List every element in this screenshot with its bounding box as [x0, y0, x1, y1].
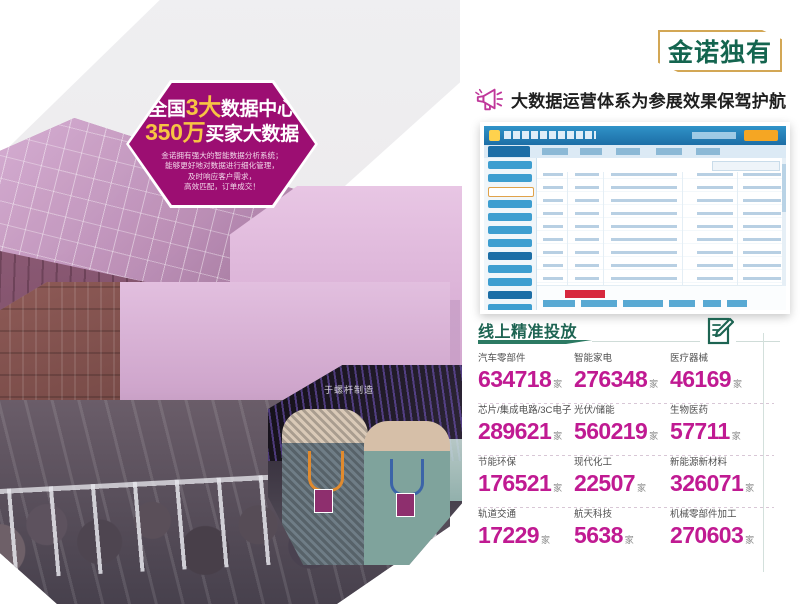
hexagon-callout: 全国3大数据中心 350万买家大数据 金诺拥有强大的智能数据分析系统； 能够更好…	[126, 80, 318, 208]
stat-value: 46169	[670, 366, 731, 392]
stat-value: 176521	[478, 470, 551, 496]
stat-value: 5638	[574, 522, 623, 548]
crm-table-rows	[537, 172, 786, 286]
callout-desc-line-3: 及时响应客户需求，	[161, 172, 283, 182]
lanyard-orange	[308, 451, 344, 492]
notepad-pencil-icon	[706, 316, 734, 346]
crm-logo-icon	[489, 130, 500, 141]
section-underline-taper	[566, 340, 592, 344]
stat-value-wrap: 22507家	[574, 470, 670, 497]
stat-cell: 汽车零部件 634718家	[478, 352, 574, 393]
visitor-badge-right	[396, 493, 415, 517]
stat-value: 57711	[670, 418, 730, 444]
stat-cell: 光伏/储能 560219家	[574, 404, 670, 445]
stat-value: 560219	[574, 418, 647, 444]
stat-cell: 节能环保 176521家	[478, 456, 574, 497]
stat-unit: 家	[732, 431, 741, 441]
crm-record-count	[565, 290, 605, 298]
section-header: 线上精准投放	[478, 318, 788, 344]
stat-unit: 家	[541, 535, 550, 545]
stat-value-wrap: 46169家	[670, 366, 766, 393]
stat-label: 智能家电	[574, 352, 670, 365]
stat-label: 医疗器械	[670, 352, 766, 365]
stat-value-wrap: 57711家	[670, 418, 766, 445]
stat-cell: 航天科技 5638家	[574, 508, 670, 549]
crm-cell-text	[537, 172, 786, 286]
stat-unit: 家	[625, 535, 634, 545]
stat-value: 270603	[670, 522, 743, 548]
stat-value-wrap: 17229家	[478, 522, 574, 549]
stat-value-wrap: 289621家	[478, 418, 574, 445]
booth-banner-text: 于螺杆制造	[324, 383, 374, 396]
stat-value: 22507	[574, 470, 635, 496]
section-title: 线上精准投放	[478, 318, 577, 342]
stat-cell: 智能家电 276348家	[574, 352, 670, 393]
stat-value: 326071	[670, 470, 743, 496]
section-underline-bar	[478, 340, 566, 344]
stat-value: 289621	[478, 418, 551, 444]
industry-stats-grid: 汽车零部件 634718家 智能家电 276348家 医疗器械 46169家 芯…	[478, 352, 768, 560]
crm-scrollbar[interactable]	[782, 158, 786, 286]
stat-unit: 家	[553, 431, 562, 441]
stat-unit: 家	[553, 483, 562, 493]
stats-row: 汽车零部件 634718家 智能家电 276348家 医疗器械 46169家	[478, 352, 768, 404]
stat-cell: 新能源新材料 326071家	[670, 456, 766, 497]
stat-value: 17229	[478, 522, 539, 548]
stat-cell: 机械零部件加工 270603家	[670, 508, 766, 549]
crm-sidebar[interactable]	[484, 158, 537, 310]
stat-cell: 芯片/集成电路/3C电子 289621家	[478, 404, 574, 445]
section-rule-right	[736, 341, 780, 342]
stat-unit: 家	[553, 379, 562, 389]
stat-label: 芯片/集成电路/3C电子	[478, 404, 574, 417]
crm-table-footer[interactable]	[537, 285, 786, 310]
crm-user-info	[692, 132, 736, 139]
callout-desc-line-4: 高效匹配，订单成交！	[161, 182, 283, 192]
crm-data-table[interactable]	[537, 158, 786, 310]
crm-titlebar	[484, 126, 786, 145]
visitor-badge-left	[314, 489, 333, 513]
right-content-panel: 金诺独有 大数据运营体系为参展效果保驾护航	[462, 0, 800, 604]
callout-line2-tail: 买家大数据	[205, 124, 299, 145]
stats-row: 节能环保 176521家 现代化工 22507家 新能源新材料 326071家	[478, 456, 768, 508]
stat-value-wrap: 326071家	[670, 470, 766, 497]
stat-value-wrap: 176521家	[478, 470, 574, 497]
crm-action-button[interactable]	[744, 130, 778, 141]
stat-value-wrap: 634718家	[478, 366, 574, 393]
stat-cell: 生物医药 57711家	[670, 404, 766, 445]
stats-row: 芯片/集成电路/3C电子 289621家 光伏/储能 560219家 生物医药 …	[478, 404, 768, 456]
callout-line1-tail: 数据中心	[221, 99, 296, 120]
lanyard-blue	[390, 459, 424, 496]
megaphone-icon	[474, 85, 504, 113]
callout-desc-line-2: 能够更好地对数据进行细化管理，	[161, 161, 283, 171]
stat-label: 现代化工	[574, 456, 670, 469]
callout-headline-line1: 全国3大数据中心	[148, 96, 295, 121]
stat-label: 汽车零部件	[478, 352, 574, 365]
stat-cell: 现代化工 22507家	[574, 456, 670, 497]
stat-unit: 家	[649, 431, 658, 441]
crm-filter-select[interactable]	[712, 161, 780, 171]
stat-label: 轨道交通	[478, 508, 574, 521]
badge-title-text: 金诺独有	[658, 30, 782, 72]
stat-label: 光伏/储能	[574, 404, 670, 417]
stat-value-wrap: 5638家	[574, 522, 670, 549]
crm-active-tab[interactable]	[488, 146, 530, 157]
callout-line1-unit: 大	[198, 94, 221, 120]
stat-value: 276348	[574, 366, 647, 392]
stat-cell: 医疗器械 46169家	[670, 352, 766, 393]
stat-label: 机械零部件加工	[670, 508, 766, 521]
callout-line1-prefix: 全国	[148, 99, 185, 120]
callout-line1-number: 3	[186, 94, 199, 120]
subtitle-text: 大数据运营体系为参展效果保驾护航	[511, 87, 786, 112]
stat-value-wrap: 276348家	[574, 366, 670, 393]
brand-badge: 金诺独有	[658, 30, 782, 72]
stat-cell: 轨道交通 17229家	[478, 508, 574, 549]
stat-unit: 家	[745, 483, 754, 493]
stat-label: 生物医药	[670, 404, 766, 417]
crm-screenshot-body	[484, 126, 786, 310]
stat-value: 634718	[478, 366, 551, 392]
crm-screenshot-window[interactable]	[480, 122, 790, 314]
stat-unit: 家	[649, 379, 658, 389]
callout-desc-line-1: 金诺拥有强大的智能数据分析系统；	[161, 151, 283, 161]
stat-value-wrap: 270603家	[670, 522, 766, 549]
stat-label: 航天科技	[574, 508, 670, 521]
stat-unit: 家	[733, 379, 742, 389]
section-rule-left	[592, 341, 700, 342]
callout-line2-number: 350万	[145, 119, 205, 145]
photo-collage: V6 于螺杆制造 全国3大数据中心 350万	[0, 0, 462, 604]
callout-description: 金诺拥有强大的智能数据分析系统； 能够更好地对数据进行细化管理， 及时响应客户需…	[161, 151, 283, 193]
stats-row: 轨道交通 17229家 航天科技 5638家 机械零部件加工 270603家	[478, 508, 768, 560]
poster-page: V6 于螺杆制造 全国3大数据中心 350万	[0, 0, 800, 604]
callout-headline-line2: 350万买家大数据	[145, 121, 299, 146]
stat-label: 新能源新材料	[670, 456, 766, 469]
booth-visitors-photo: 于螺杆制造	[268, 365, 462, 565]
stat-unit: 家	[637, 483, 646, 493]
stat-value-wrap: 560219家	[574, 418, 670, 445]
crm-app-title	[504, 131, 596, 139]
stat-label: 节能环保	[478, 456, 574, 469]
stat-unit: 家	[745, 535, 754, 545]
subtitle-row: 大数据运营体系为参展效果保驾护航	[474, 82, 796, 116]
